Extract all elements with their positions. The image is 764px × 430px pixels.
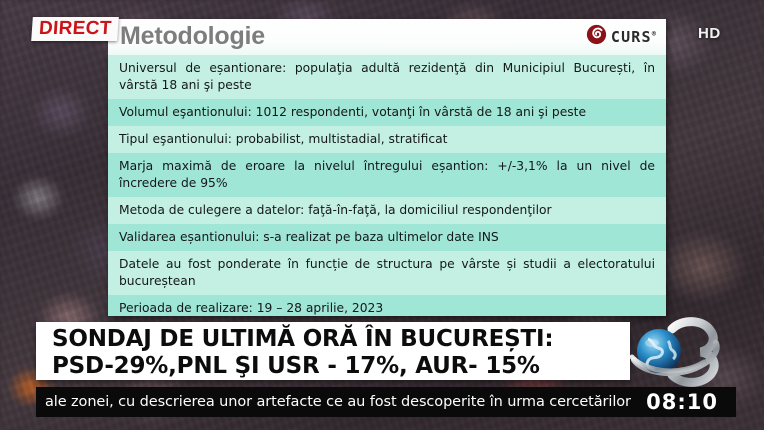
headline-banner: SONDAJ DE ULTIMĂ ORĂ ÎN BUCUREȘTI: PSD-2… [36,322,630,380]
clock-time: 08:10 [632,390,736,414]
headline-line-1: SONDAJ DE ULTIMĂ ORĂ ÎN BUCUREȘTI: [52,326,630,353]
page-title: Metodologie [120,24,265,49]
live-direct-label: DIRECT [38,19,112,38]
methodology-panel: Metodologie CURS® Universul de eșantiona… [108,19,666,316]
methodology-row: Metoda de culegere a datelor: faţă-în-fa… [108,197,666,224]
curs-logo: CURS® [586,24,656,50]
methodology-row: Marja maximă de eroare la nivelul întreg… [108,153,666,197]
curs-logo-text: CURS® [611,28,656,46]
methodology-rows: Universul de eșantionare: populaţia adul… [108,55,666,316]
methodology-row: Datele au fost ponderate în funcție de s… [108,251,666,295]
ticker-text: ale zonei, cu descrierea unor artefacte … [36,394,632,410]
methodology-row: Tipul eşantionului: probabilist, multist… [108,126,666,153]
live-direct-badge: DIRECT [31,17,118,41]
headline-line-2: PSD-29%,PNL ŞI USR - 17%, AUR- 15% [52,353,630,380]
methodology-panel-header: Metodologie CURS® [108,19,666,55]
methodology-row: Perioada de realizare: 19 – 28 aprilie, … [108,295,666,316]
methodology-row: Universul de eșantionare: populaţia adul… [108,55,666,99]
methodology-row: Volumul eşantionului: 1012 respondenti, … [108,99,666,126]
hd-quality-badge: HD [698,25,721,42]
curs-swirl-icon [586,24,607,50]
curs-wordmark: CURS [611,28,652,46]
methodology-row: Validarea eșantionului: s-a realizat pe … [108,224,666,251]
broadcast-screen: DIRECT HD Metodologie CURS® Universul de… [0,0,764,430]
registered-mark-icon: ® [652,30,656,38]
antena-3-globe-logo [612,313,756,393]
